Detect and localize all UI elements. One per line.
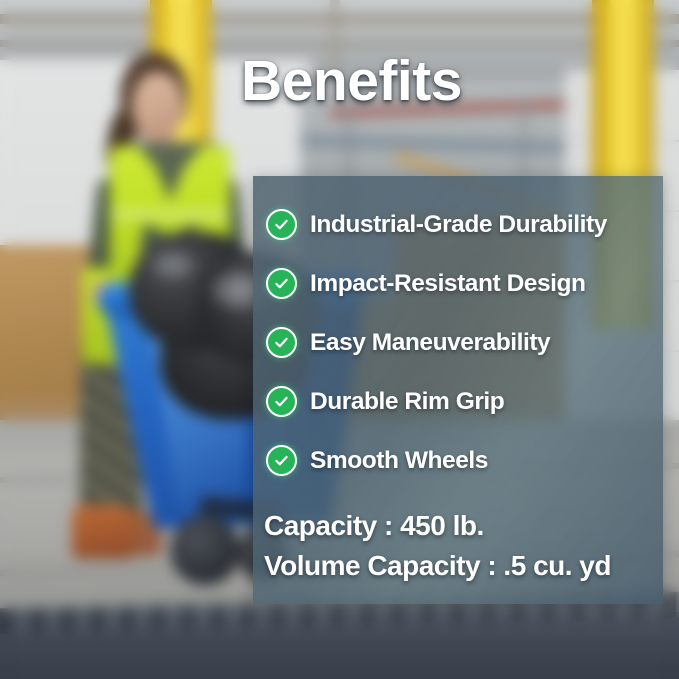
check-circle-icon — [266, 268, 297, 299]
benefits-list: Industrial-Grade Durability Impact-Resis… — [266, 195, 656, 490]
specifications: Capacity : 450 lb. Volume Capacity : .5 … — [264, 506, 660, 586]
check-circle-icon — [266, 327, 297, 358]
spec-capacity: Capacity : 450 lb. — [264, 506, 660, 546]
list-item-label: Smooth Wheels — [310, 447, 488, 475]
check-circle-icon — [266, 445, 297, 476]
list-item: Industrial-Grade Durability — [266, 195, 656, 254]
benefits-panel: Industrial-Grade Durability Impact-Resis… — [253, 176, 663, 604]
spec-volume-capacity: Volume Capacity : .5 cu. yd — [264, 546, 660, 586]
list-item: Durable Rim Grip — [266, 372, 656, 431]
product-benefits-image: Benefits Industrial-Grade Durability — [0, 0, 679, 679]
list-item: Easy Maneuverability — [266, 313, 656, 372]
list-item: Smooth Wheels — [266, 431, 656, 490]
page-title: Benefits — [0, 52, 679, 112]
list-item-label: Easy Maneuverability — [310, 329, 550, 357]
check-circle-icon — [266, 209, 297, 240]
list-item-label: Durable Rim Grip — [310, 388, 504, 416]
list-item-label: Industrial-Grade Durability — [310, 211, 607, 239]
check-circle-icon — [266, 386, 297, 417]
page-title-text: Benefits — [217, 52, 462, 112]
list-item-label: Impact-Resistant Design — [310, 270, 586, 298]
list-item: Impact-Resistant Design — [266, 254, 656, 313]
